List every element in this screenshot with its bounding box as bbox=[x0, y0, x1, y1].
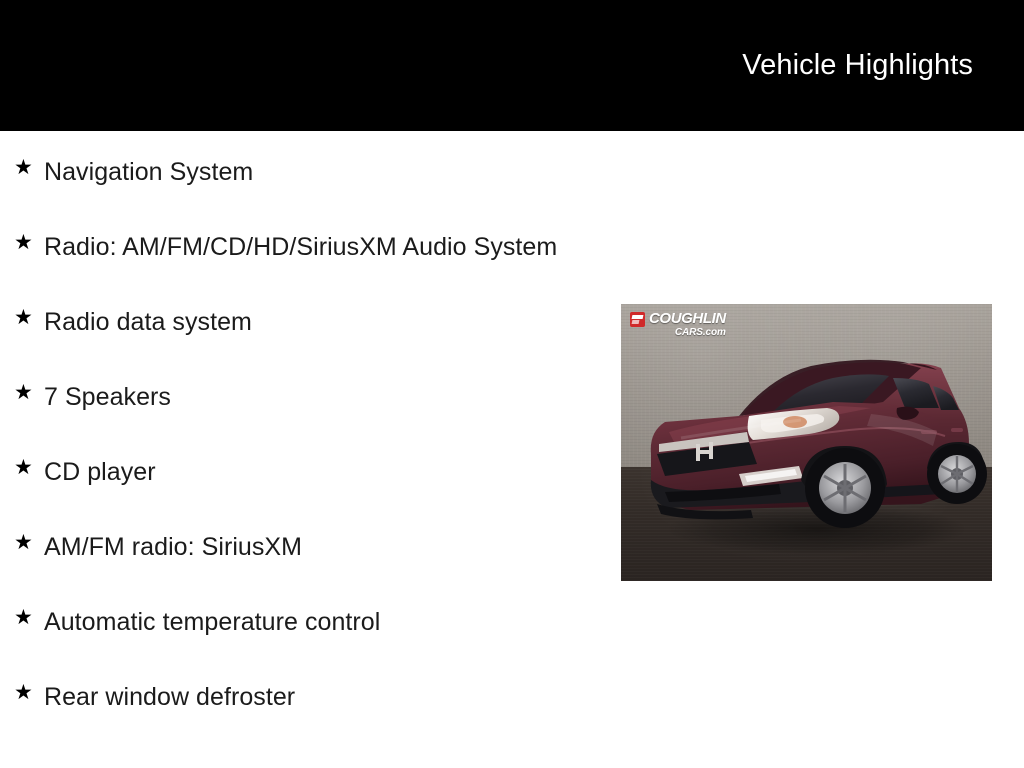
list-item-label: Rear window defroster bbox=[44, 656, 564, 714]
list-item-label: Navigation System bbox=[44, 131, 564, 189]
list-item: ★ Radio: AM/FM/CD/HD/SiriusXM Audio Syst… bbox=[0, 206, 600, 281]
star-bullet-icon: ★ bbox=[14, 381, 34, 405]
list-item: ★ CD player bbox=[0, 431, 600, 506]
list-item-label: Radio: AM/FM/CD/HD/SiriusXM Audio System bbox=[44, 206, 564, 264]
list-item: ★ 7 Speakers bbox=[0, 356, 600, 431]
watermark-text: COUGHLIN CARS.com bbox=[649, 311, 726, 338]
vehicle-highlights-page: Vehicle Highlights ★ Navigation System ★… bbox=[0, 0, 1024, 768]
list-item-label: Automatic temperature control bbox=[44, 581, 564, 639]
star-bullet-icon: ★ bbox=[14, 606, 34, 630]
page-title: Vehicle Highlights bbox=[742, 48, 973, 82]
watermark-brand: COUGHLIN bbox=[649, 311, 726, 326]
star-bullet-icon: ★ bbox=[14, 156, 34, 180]
vehicle-highlights-list: ★ Navigation System ★ Radio: AM/FM/CD/HD… bbox=[0, 131, 600, 731]
watermark-suffix: CARS.com bbox=[675, 328, 726, 338]
list-item: ★ Navigation System bbox=[0, 131, 600, 206]
vehicle-photo: COUGHLIN CARS.com bbox=[621, 304, 992, 581]
star-bullet-icon: ★ bbox=[14, 306, 34, 330]
list-item: ★ AM/FM radio: SiriusXM bbox=[0, 506, 600, 581]
coughlin-logo-icon bbox=[630, 312, 645, 327]
list-item-label: 7 Speakers bbox=[44, 356, 564, 414]
list-item: ★ Radio data system bbox=[0, 281, 600, 356]
star-bullet-icon: ★ bbox=[14, 531, 34, 555]
list-item-label: Radio data system bbox=[44, 281, 564, 339]
list-item: ★ Automatic temperature control bbox=[0, 581, 600, 656]
list-item: ★ Rear window defroster bbox=[0, 656, 600, 731]
star-bullet-icon: ★ bbox=[14, 681, 34, 705]
star-bullet-icon: ★ bbox=[14, 231, 34, 255]
dealer-watermark: COUGHLIN CARS.com bbox=[630, 311, 726, 338]
star-bullet-icon: ★ bbox=[14, 456, 34, 480]
list-item-label: AM/FM radio: SiriusXM bbox=[44, 506, 564, 564]
header-bar: Vehicle Highlights bbox=[0, 0, 1024, 131]
list-item-label: CD player bbox=[44, 431, 564, 489]
suv-illustration bbox=[621, 304, 992, 581]
